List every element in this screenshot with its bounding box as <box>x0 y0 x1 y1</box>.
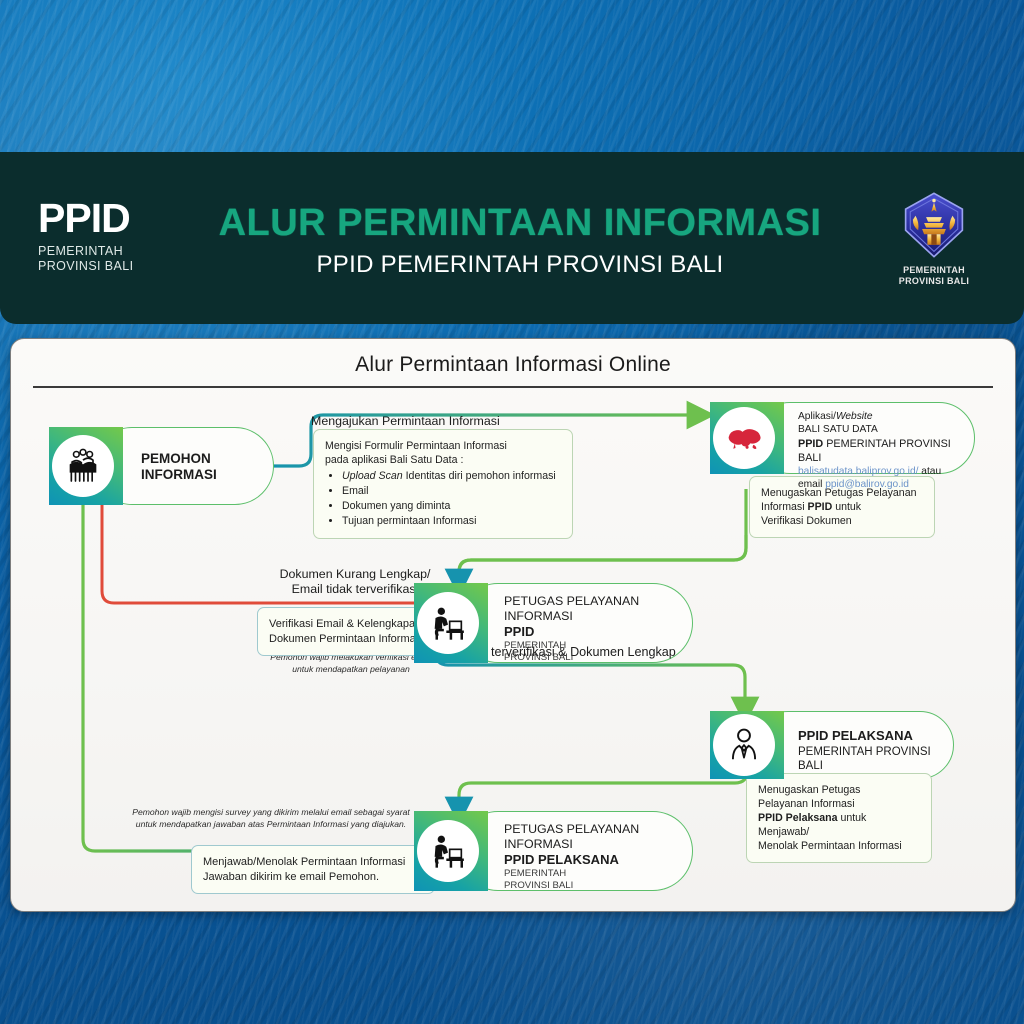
box-menjawab-line2: Jawaban dikirim ke email Pemohon. <box>203 870 423 885</box>
box-menugaskan-pelaksana-line1: Menugaskan Petugas <box>758 783 920 797</box>
ppid-pelaksana-line1: PPID PELAKSANA <box>798 728 954 745</box>
ppid-pelaksana-disc <box>713 714 775 776</box>
officer-at-desk-icon <box>428 603 468 643</box>
box-form-item-1: Upload Scan Identitas diri pemohon infor… <box>342 469 561 483</box>
balisatudata-label: Aplikasi/Website BALI SATU DATA PPID PEM… <box>798 410 975 492</box>
balisatudata-line3-bold: PPID <box>798 438 823 450</box>
label-mengajukan-permintaan: Mengajukan Permintaan Informasi <box>311 414 500 429</box>
petugas-pelaksana-line2: INFORMASI <box>504 837 639 852</box>
ppid-logo-subtitle-line1: PEMERINTAH <box>38 244 198 259</box>
petugas-pelaksana-disc <box>417 820 479 882</box>
petugas-ppid-disc <box>417 592 479 654</box>
note-survey-line2: untuk mendapatkan jawaban atas Permintaa… <box>121 818 421 830</box>
box-menugaskan-ppid-line2: Informasi PPID untuk <box>761 500 923 514</box>
balisatudata-line1: Aplikasi/Website <box>798 410 975 423</box>
group-of-people-icon <box>63 446 103 486</box>
person-with-tie-icon <box>725 726 763 764</box>
balisatudata-disc <box>713 407 775 469</box>
header-titles: ALUR PERMINTAAN INFORMASI PPID PEMERINTA… <box>200 204 840 279</box>
node-pemohon-informasi[interactable]: PEMOHON INFORMASI <box>49 427 274 505</box>
balisatudata-line4-rest: atau <box>918 466 941 477</box>
pemohon-label: PEMOHON INFORMASI <box>141 451 217 483</box>
petugas-ppid-line2: INFORMASI <box>504 609 639 624</box>
box-form-item-1-rest: Identitas diri pemohon informasi <box>403 470 556 482</box>
petugas-ppid-label: PETUGAS PELAYANAN INFORMASI PPID PEMERIN… <box>504 594 639 664</box>
box-menugaskan-ppid-line2-bold: PPID <box>808 501 833 513</box>
balisatudata-line4: balisatudata.baliprov.go.id/ atau <box>798 465 975 478</box>
ppid-logo: PPID PEMERINTAH PROVINSI BALI <box>38 198 198 275</box>
petugas-ppid-line4: PEMERINTAH <box>504 640 639 652</box>
note-survey-line1: Pemohon wajib mengisi survey yang dikiri… <box>121 806 421 818</box>
label-dokumen-kurang-line1: Dokumen Kurang Lengkap/ <box>255 567 455 582</box>
node-petugas-pelayanan-pelaksana[interactable]: PETUGAS PELAYANAN INFORMASI PPID PELAKSA… <box>414 811 693 891</box>
bali-island-map-icon <box>724 423 764 453</box>
emblem-caption: PEMERINTAH PROVINSI BALI <box>886 265 982 288</box>
header-subtitle: PPID PEMERINTAH PROVINSI BALI <box>200 251 840 279</box>
balisatudata-url[interactable]: balisatudata.baliprov.go.id/ <box>798 466 918 477</box>
balisatudata-email[interactable]: ppid@balirov.go.id <box>825 479 909 490</box>
balisatudata-line2: BALI SATU DATA <box>798 423 975 436</box>
pemohon-disc <box>52 435 114 497</box>
balisatudata-line5: email ppid@balirov.go.id <box>798 478 975 491</box>
box-menugaskan-ppid-line2-rest: untuk <box>832 501 861 513</box>
box-menugaskan-pelaksana-line3-bold: PPID Pelaksana <box>758 812 838 824</box>
box-form-item-1-italic: Upload Scan <box>342 470 403 482</box>
box-menugaskan-ppid-line2-prefix: Informasi <box>761 501 808 513</box>
box-form-item-2: Email <box>342 484 561 498</box>
flow-diagram: PEMOHON INFORMASI Aplikasi/Website B <box>11 339 1015 911</box>
header-band: PPID PEMERINTAH PROVINSI BALI ALUR PERMI… <box>0 152 1024 324</box>
petugas-pelaksana-line1: PETUGAS PELAYANAN <box>504 822 639 837</box>
balisatudata-line1-italic: Website <box>836 411 873 422</box>
box-menugaskan-pelaksana-line3: PPID Pelaksana untuk Menjawab/ <box>758 811 920 839</box>
node-bali-satu-data[interactable]: Aplikasi/Website BALI SATU DATA PPID PEM… <box>710 402 975 474</box>
note-survey: Pemohon wajib mengisi survey yang dikiri… <box>121 806 421 830</box>
balisatudata-line1-prefix: Aplikasi/ <box>798 411 836 422</box>
diagram-card: Alur Permintaan Informasi Online <box>10 338 1016 912</box>
petugas-pelaksana-line5: PROVINSI BALI <box>504 880 639 892</box>
box-menugaskan-petugas-pelaksana: Menugaskan Petugas Pelayanan Informasi P… <box>746 773 932 863</box>
box-menugaskan-pelaksana-line2: Pelayanan Informasi <box>758 797 920 811</box>
box-form-item-4: Tujuan permintaan Informasi <box>342 514 561 528</box>
box-mengisi-formulir: Mengisi Formulir Permintaan Informasi pa… <box>313 429 573 539</box>
petugas-pelaksana-line4: PEMERINTAH <box>504 868 639 880</box>
officer-at-desk-icon <box>428 831 468 871</box>
box-menjawab-line1: Menjawab/Menolak Permintaan Informasi <box>203 855 423 870</box>
balisatudata-line3: PPID PEMERINTAH PROVINSI BALI <box>798 437 975 465</box>
petugas-ppid-line3: PPID <box>504 624 639 640</box>
ppid-logo-subtitle-line2: PROVINSI BALI <box>38 259 198 274</box>
petugas-ppid-line5: PROVINSI BALI <box>504 652 639 664</box>
pemohon-label-line1: PEMOHON <box>141 451 217 467</box>
ppid-pelaksana-line2: PEMERINTAH PROVINSI BALI <box>798 745 954 774</box>
petugas-ppid-line1: PETUGAS PELAYANAN <box>504 594 639 609</box>
emblem-caption-line2: PROVINSI BALI <box>886 276 982 287</box>
ppid-pelaksana-label: PPID PELAKSANA PEMERINTAH PROVINSI BALI <box>798 728 954 774</box>
box-form-item-3: Dokumen yang diminta <box>342 499 561 513</box>
box-menugaskan-pelaksana-line4: Menolak Permintaan Informasi <box>758 839 920 853</box>
ppid-logo-text: PPID <box>38 198 198 239</box>
balisatudata-email-prefix: email <box>798 479 825 490</box>
petugas-pelaksana-line3: PPID PELAKSANA <box>504 852 639 868</box>
box-form-line1: Mengisi Formulir Permintaan Informasi <box>325 439 561 453</box>
note-verifikasi-line2: untuk mendapatkan pelayanan <box>251 664 451 676</box>
ppid-logo-subtitle: PEMERINTAH PROVINSI BALI <box>38 244 198 275</box>
emblem-caption-line1: PEMERINTAH <box>886 265 982 276</box>
pemohon-label-line2: INFORMASI <box>141 467 217 483</box>
bali-emblem-icon <box>901 192 967 258</box>
box-form-line2: pada aplikasi Bali Satu Data : <box>325 453 561 467</box>
petugas-pelaksana-label: PETUGAS PELAYANAN INFORMASI PPID PELAKSA… <box>504 822 639 892</box>
bali-province-emblem: PEMERINTAH PROVINSI BALI <box>886 192 982 288</box>
node-ppid-pelaksana[interactable]: PPID PELAKSANA PEMERINTAH PROVINSI BALI <box>710 711 954 779</box>
box-menugaskan-ppid-line3: Verifikasi Dokumen <box>761 514 923 528</box>
header-title: ALUR PERMINTAAN INFORMASI <box>200 204 840 244</box>
box-form-list: Upload Scan Identitas diri pemohon infor… <box>325 469 561 528</box>
box-menjawab-menolak: Menjawab/Menolak Permintaan Informasi Ja… <box>191 845 435 894</box>
